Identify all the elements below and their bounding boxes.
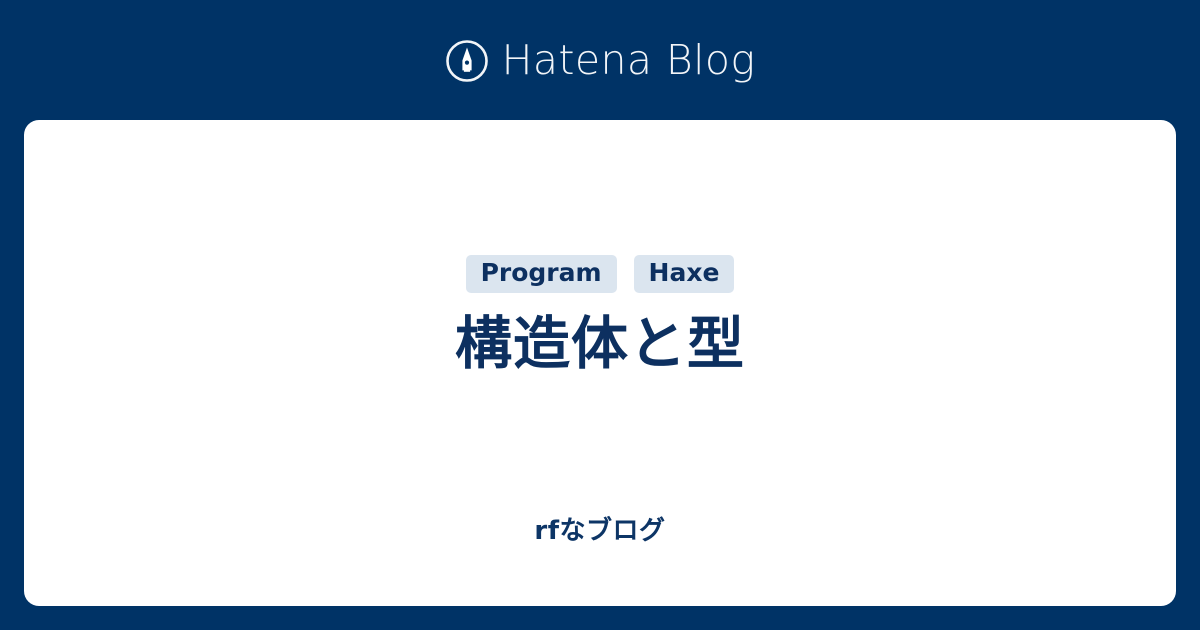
pen-nib-circle-icon [445,39,489,83]
entry-card-inner: Program Haxe 構造体と型 rfなブログ [24,120,1176,606]
og-image-canvas: Hatena Blog Program Haxe 構造体と型 rfなブログ [0,0,1200,630]
entry-title: 構造体と型 [455,309,745,380]
entry-card: Program Haxe 構造体と型 rfなブログ [24,120,1176,606]
brand-name: Hatena Blog [502,40,756,81]
tag-list: Program Haxe [466,255,735,293]
tag-badge-haxe[interactable]: Haxe [634,255,735,293]
blog-name: rfなブログ [24,510,1176,547]
tag-badge-program[interactable]: Program [466,255,617,293]
brand-header: Hatena Blog [0,0,1200,120]
